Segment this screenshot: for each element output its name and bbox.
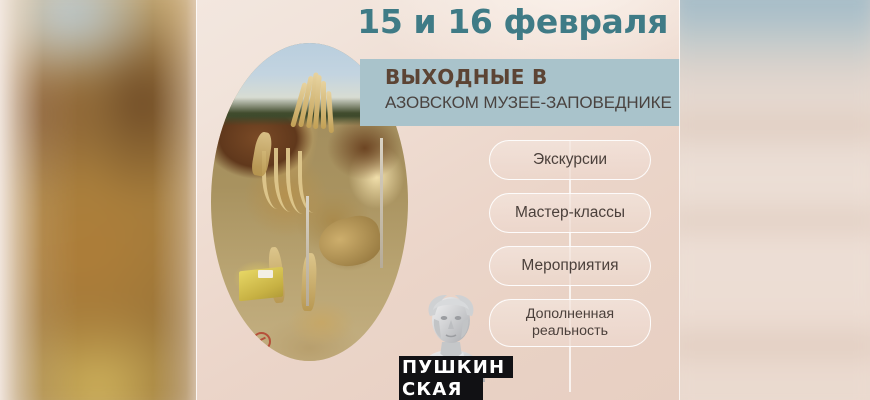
background-blur-left-fade — [0, 0, 196, 400]
background-blur-right — [668, 0, 870, 400]
card-seam-right — [679, 0, 680, 400]
card-seam-left — [196, 0, 197, 400]
pill-master-klassy[interactable]: Мастер-классы — [489, 193, 651, 233]
activity-pill-list: Экскурсии Мастер-классы Мероприятия Допо… — [489, 140, 651, 347]
event-date: 15 и 16 февраля — [196, 2, 680, 41]
pill-dopolnennaya-realnost[interactable]: Дополненная реальность — [489, 299, 651, 347]
skull-detail — [314, 211, 386, 273]
pushkin-logo-line1: ПУШКИН — [399, 356, 513, 378]
banner-title-line1: ВЫХОДНЫЕ В — [385, 66, 672, 90]
poster-stage: 15 и 16 февраля ВЫХОДНЫЕ В АЗОВС — [0, 0, 870, 400]
pill-meropriyatiya[interactable]: Мероприятия — [489, 246, 651, 286]
no-photo-marker-icon — [252, 332, 271, 351]
pushkin-logo-line2: СКАЯ — [399, 378, 483, 400]
banner-title-line2: АЗОВСКОМ МУЗЕЕ-ЗАПОВЕДНИКЕ — [385, 90, 672, 116]
pushkin-card-badge: ПУШКИН СКАЯ — [399, 286, 513, 400]
title-banner: ВЫХОДНЫЕ В АЗОВСКОМ МУЗЕЕ-ЗАПОВЕДНИКЕ — [360, 59, 680, 126]
pill-ekskursii[interactable]: Экскурсии — [489, 140, 651, 180]
exhibit-label — [258, 270, 273, 278]
pushkin-card-logo: ПУШКИН СКАЯ — [399, 356, 513, 400]
